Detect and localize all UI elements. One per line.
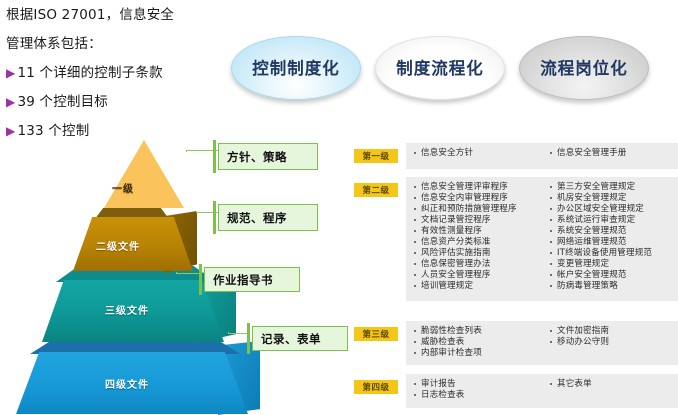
list-item: 机房安全管理规定 — [550, 193, 678, 204]
intro-text-block: 根据ISO 27001，信息安全 管理体系包括： ▶ 11 个详细的控制子条款 … — [6, 8, 231, 153]
list-item: 有效性测量程序 — [414, 226, 542, 237]
square-bullet-icon — [414, 197, 416, 199]
list-item: 风险评估实施指南 — [414, 248, 542, 259]
pyramid-level1-face — [104, 140, 184, 208]
list-item: 帐户安全管理规范 — [550, 270, 678, 281]
list-item: 信息安全内审管理程序 — [414, 193, 542, 204]
list-item: 脆弱性检查列表 — [414, 326, 542, 337]
list-item: 威胁检查表 — [414, 337, 542, 348]
list-item-label: 变更管理规定 — [557, 259, 609, 270]
list-item-label: 系统安全管理规范 — [557, 226, 627, 237]
callout-policy-strategy: 方针、策略 — [218, 143, 318, 170]
badge-level-2: 第二级 — [354, 183, 398, 197]
list-item-label: 审计报告 — [421, 379, 456, 390]
doc-group-level-4: 审计报告 日志检查表 其它表单 — [406, 374, 678, 408]
list-item: 纠正和预防措施管理程序 — [414, 204, 542, 215]
list-item-label: 办公区域安全管理规定 — [557, 204, 644, 215]
square-bullet-icon — [414, 241, 416, 243]
list-item-label: 培训管理规定 — [421, 281, 473, 292]
doc-group-4-right-column: 其它表单 — [542, 379, 678, 401]
callout-4-connector — [228, 332, 248, 334]
list-item: 信息资产分类标准 — [414, 237, 542, 248]
square-bullet-icon — [550, 230, 552, 232]
list-item-label: 第三方安全管理规定 — [557, 182, 635, 193]
ellipse-3-label: 流程岗位化 — [540, 55, 628, 79]
list-item-label: IT终端设备使用管理规范 — [557, 248, 652, 259]
callout-4-label: 记录、表单 — [261, 331, 321, 347]
list-item: 信息安全管理手册 — [550, 148, 678, 159]
callout-4-tick — [247, 323, 250, 354]
square-bullet-icon — [550, 383, 552, 385]
callout-1-tick — [213, 140, 216, 173]
pyramid-level2-label: 二级文件 — [96, 238, 140, 253]
list-item: 内部审计检查项 — [414, 348, 542, 359]
list-item: 网络运维管理规范 — [550, 237, 678, 248]
square-bullet-icon — [414, 208, 416, 210]
doc-group-level-1: 信息安全方针 信息安全管理手册 — [406, 143, 678, 169]
list-item-label: 防病毒管理策略 — [557, 281, 618, 292]
ellipse-system-processization: 制度流程化 — [375, 36, 505, 100]
list-item: 人员安全管理程序 — [414, 270, 542, 281]
doc-group-2-left-column: 信息安全管理评审程序 信息安全内审管理程序 纠正和预防措施管理程序 文档记录管控… — [406, 182, 542, 292]
list-item: 防病毒管理策略 — [550, 281, 678, 292]
badge-level-3: 第三级 — [354, 327, 398, 341]
intro-bullet-3: ▶ 133 个控制 — [6, 124, 231, 139]
intro-bullet-2-label: 39 个控制目标 — [17, 95, 108, 110]
callout-3-label: 作业指导书 — [213, 272, 273, 288]
list-item: 信息安全管理评审程序 — [414, 182, 542, 193]
square-bullet-icon — [550, 330, 552, 332]
list-item-label: 文档记录管控程序 — [421, 215, 491, 226]
list-item-label: 信息资产分类标准 — [421, 237, 491, 248]
callout-standards-procedures: 规范、程序 — [218, 204, 318, 231]
square-bullet-icon — [550, 241, 552, 243]
intro-line-1: 根据ISO 27001，信息安全 — [6, 8, 231, 23]
list-item: 文件加密指南 — [550, 326, 678, 337]
list-item-label: 内部审计检查项 — [421, 348, 482, 359]
square-bullet-icon — [550, 208, 552, 210]
square-bullet-icon — [414, 394, 416, 396]
list-item-label: 脆弱性检查列表 — [421, 326, 482, 337]
list-item-label: 网络运维管理规范 — [557, 237, 627, 248]
callout-2-label: 规范、程序 — [227, 210, 287, 226]
square-bullet-icon — [414, 263, 416, 265]
list-item: 日志检查表 — [414, 390, 542, 401]
list-item: 文档记录管控程序 — [414, 215, 542, 226]
list-item-label: 帐户安全管理规范 — [557, 270, 627, 281]
list-item-label: 信息安全管理手册 — [557, 148, 627, 159]
square-bullet-icon — [414, 341, 416, 343]
ellipse-2-label: 制度流程化 — [396, 55, 484, 79]
document-list-panel: 第一级 信息安全方针 信息安全管理手册 第二级 — [350, 140, 678, 414]
square-bullet-icon — [550, 219, 552, 221]
list-item: 培训管理规定 — [414, 281, 542, 292]
list-item-label: 威胁检查表 — [421, 337, 465, 348]
square-bullet-icon — [550, 186, 552, 188]
callout-3-connector — [176, 272, 200, 274]
square-bullet-icon — [414, 186, 416, 188]
list-item-label: 风险评估实施指南 — [421, 248, 491, 259]
list-item: IT终端设备使用管理规范 — [550, 248, 678, 259]
doc-group-level-2: 信息安全管理评审程序 信息安全内审管理程序 纠正和预防措施管理程序 文档记录管控… — [406, 177, 678, 301]
square-bullet-icon — [550, 152, 552, 154]
square-bullet-icon — [550, 285, 552, 287]
square-bullet-icon — [414, 330, 416, 332]
list-item: 系统安全管理规范 — [550, 226, 678, 237]
intro-bullet-3-label: 133 个控制 — [17, 124, 89, 139]
pyramid-level4-label: 四级文件 — [105, 376, 149, 391]
list-item: 系统试运行审查规定 — [550, 215, 678, 226]
square-bullet-icon — [414, 219, 416, 221]
list-item-label: 信息安全内审管理程序 — [421, 193, 508, 204]
list-item-label: 人员安全管理程序 — [421, 270, 491, 281]
doc-group-3-right-column: 文件加密指南 移动办公守则 — [542, 326, 678, 359]
intro-bullet-1: ▶ 11 个详细的控制子条款 — [6, 66, 231, 81]
list-item: 审计报告 — [414, 379, 542, 390]
list-item-label: 系统试运行审查规定 — [557, 215, 635, 226]
doc-group-2-right-column: 第三方安全管理规定 机房安全管理规定 办公区域安全管理规定 系统试运行审查规定 … — [542, 182, 678, 292]
square-bullet-icon — [550, 341, 552, 343]
callout-1-label: 方针、策略 — [227, 149, 287, 165]
list-item-label: 有效性测量程序 — [421, 226, 482, 237]
square-bullet-icon — [414, 274, 416, 276]
square-bullet-icon — [550, 274, 552, 276]
list-item: 移动办公守则 — [550, 337, 678, 348]
triangle-bullet-icon: ▶ — [6, 96, 15, 108]
list-item: 第三方安全管理规定 — [550, 182, 678, 193]
ellipse-process-positionization: 流程岗位化 — [519, 36, 649, 100]
list-item-label: 信息保密管理办法 — [421, 259, 491, 270]
pyramid-level3-label: 三级文件 — [105, 302, 149, 317]
list-item: 变更管理规定 — [550, 259, 678, 270]
square-bullet-icon — [414, 352, 416, 354]
triangle-bullet-icon: ▶ — [6, 125, 15, 137]
square-bullet-icon — [414, 285, 416, 287]
square-bullet-icon — [414, 230, 416, 232]
intro-bullet-2: ▶ 39 个控制目标 — [6, 95, 231, 110]
list-item: 办公区域安全管理规定 — [550, 204, 678, 215]
triangle-bullet-icon: ▶ — [6, 67, 15, 79]
intro-line-2: 管理体系包括： — [6, 37, 231, 52]
square-bullet-icon — [414, 252, 416, 254]
list-item: 信息保密管理办法 — [414, 259, 542, 270]
list-item-label: 机房安全管理规定 — [557, 193, 627, 204]
list-item-label: 文件加密指南 — [557, 326, 609, 337]
badge-level-4: 第四级 — [354, 380, 398, 394]
list-item-label: 日志检查表 — [421, 390, 465, 401]
callout-2-tick — [213, 201, 216, 234]
slide-root: 根据ISO 27001，信息安全 管理体系包括： ▶ 11 个详细的控制子条款 … — [0, 0, 678, 414]
square-bullet-icon — [414, 152, 416, 154]
list-item-label: 信息安全方针 — [421, 148, 473, 159]
doc-group-1-right-column: 信息安全管理手册 — [542, 148, 678, 159]
pyramid-level1-label: 一级 — [112, 180, 134, 195]
callout-work-instructions: 作业指导书 — [204, 267, 300, 292]
intro-bullet-1-label: 11 个详细的控制子条款 — [17, 66, 162, 81]
list-item-label: 纠正和预防措施管理程序 — [421, 204, 517, 215]
doc-group-4-left-column: 审计报告 日志检查表 — [406, 379, 542, 401]
badge-level-1: 第一级 — [354, 149, 398, 163]
square-bullet-icon — [550, 197, 552, 199]
list-item-label: 信息安全管理评审程序 — [421, 182, 508, 193]
list-item: 其它表单 — [550, 379, 678, 390]
list-item-label: 移动办公守则 — [557, 337, 609, 348]
list-item: 信息安全方针 — [414, 148, 542, 159]
list-item-label: 其它表单 — [557, 379, 592, 390]
doc-group-3-left-column: 脆弱性检查列表 威胁检查表 内部审计检查项 — [406, 326, 542, 359]
ellipse-1-label: 控制制度化 — [252, 55, 340, 79]
square-bullet-icon — [550, 263, 552, 265]
callout-3-tick — [199, 264, 202, 295]
callout-records-forms: 记录、表单 — [252, 326, 348, 351]
square-bullet-icon — [414, 383, 416, 385]
doc-group-1-left-column: 信息安全方针 — [406, 148, 542, 159]
square-bullet-icon — [550, 252, 552, 254]
ellipse-control-systemization: 控制制度化 — [231, 36, 361, 100]
doc-group-level-3: 脆弱性检查列表 威胁检查表 内部审计检查项 文件加密指南 移动办公守则 — [406, 321, 678, 365]
